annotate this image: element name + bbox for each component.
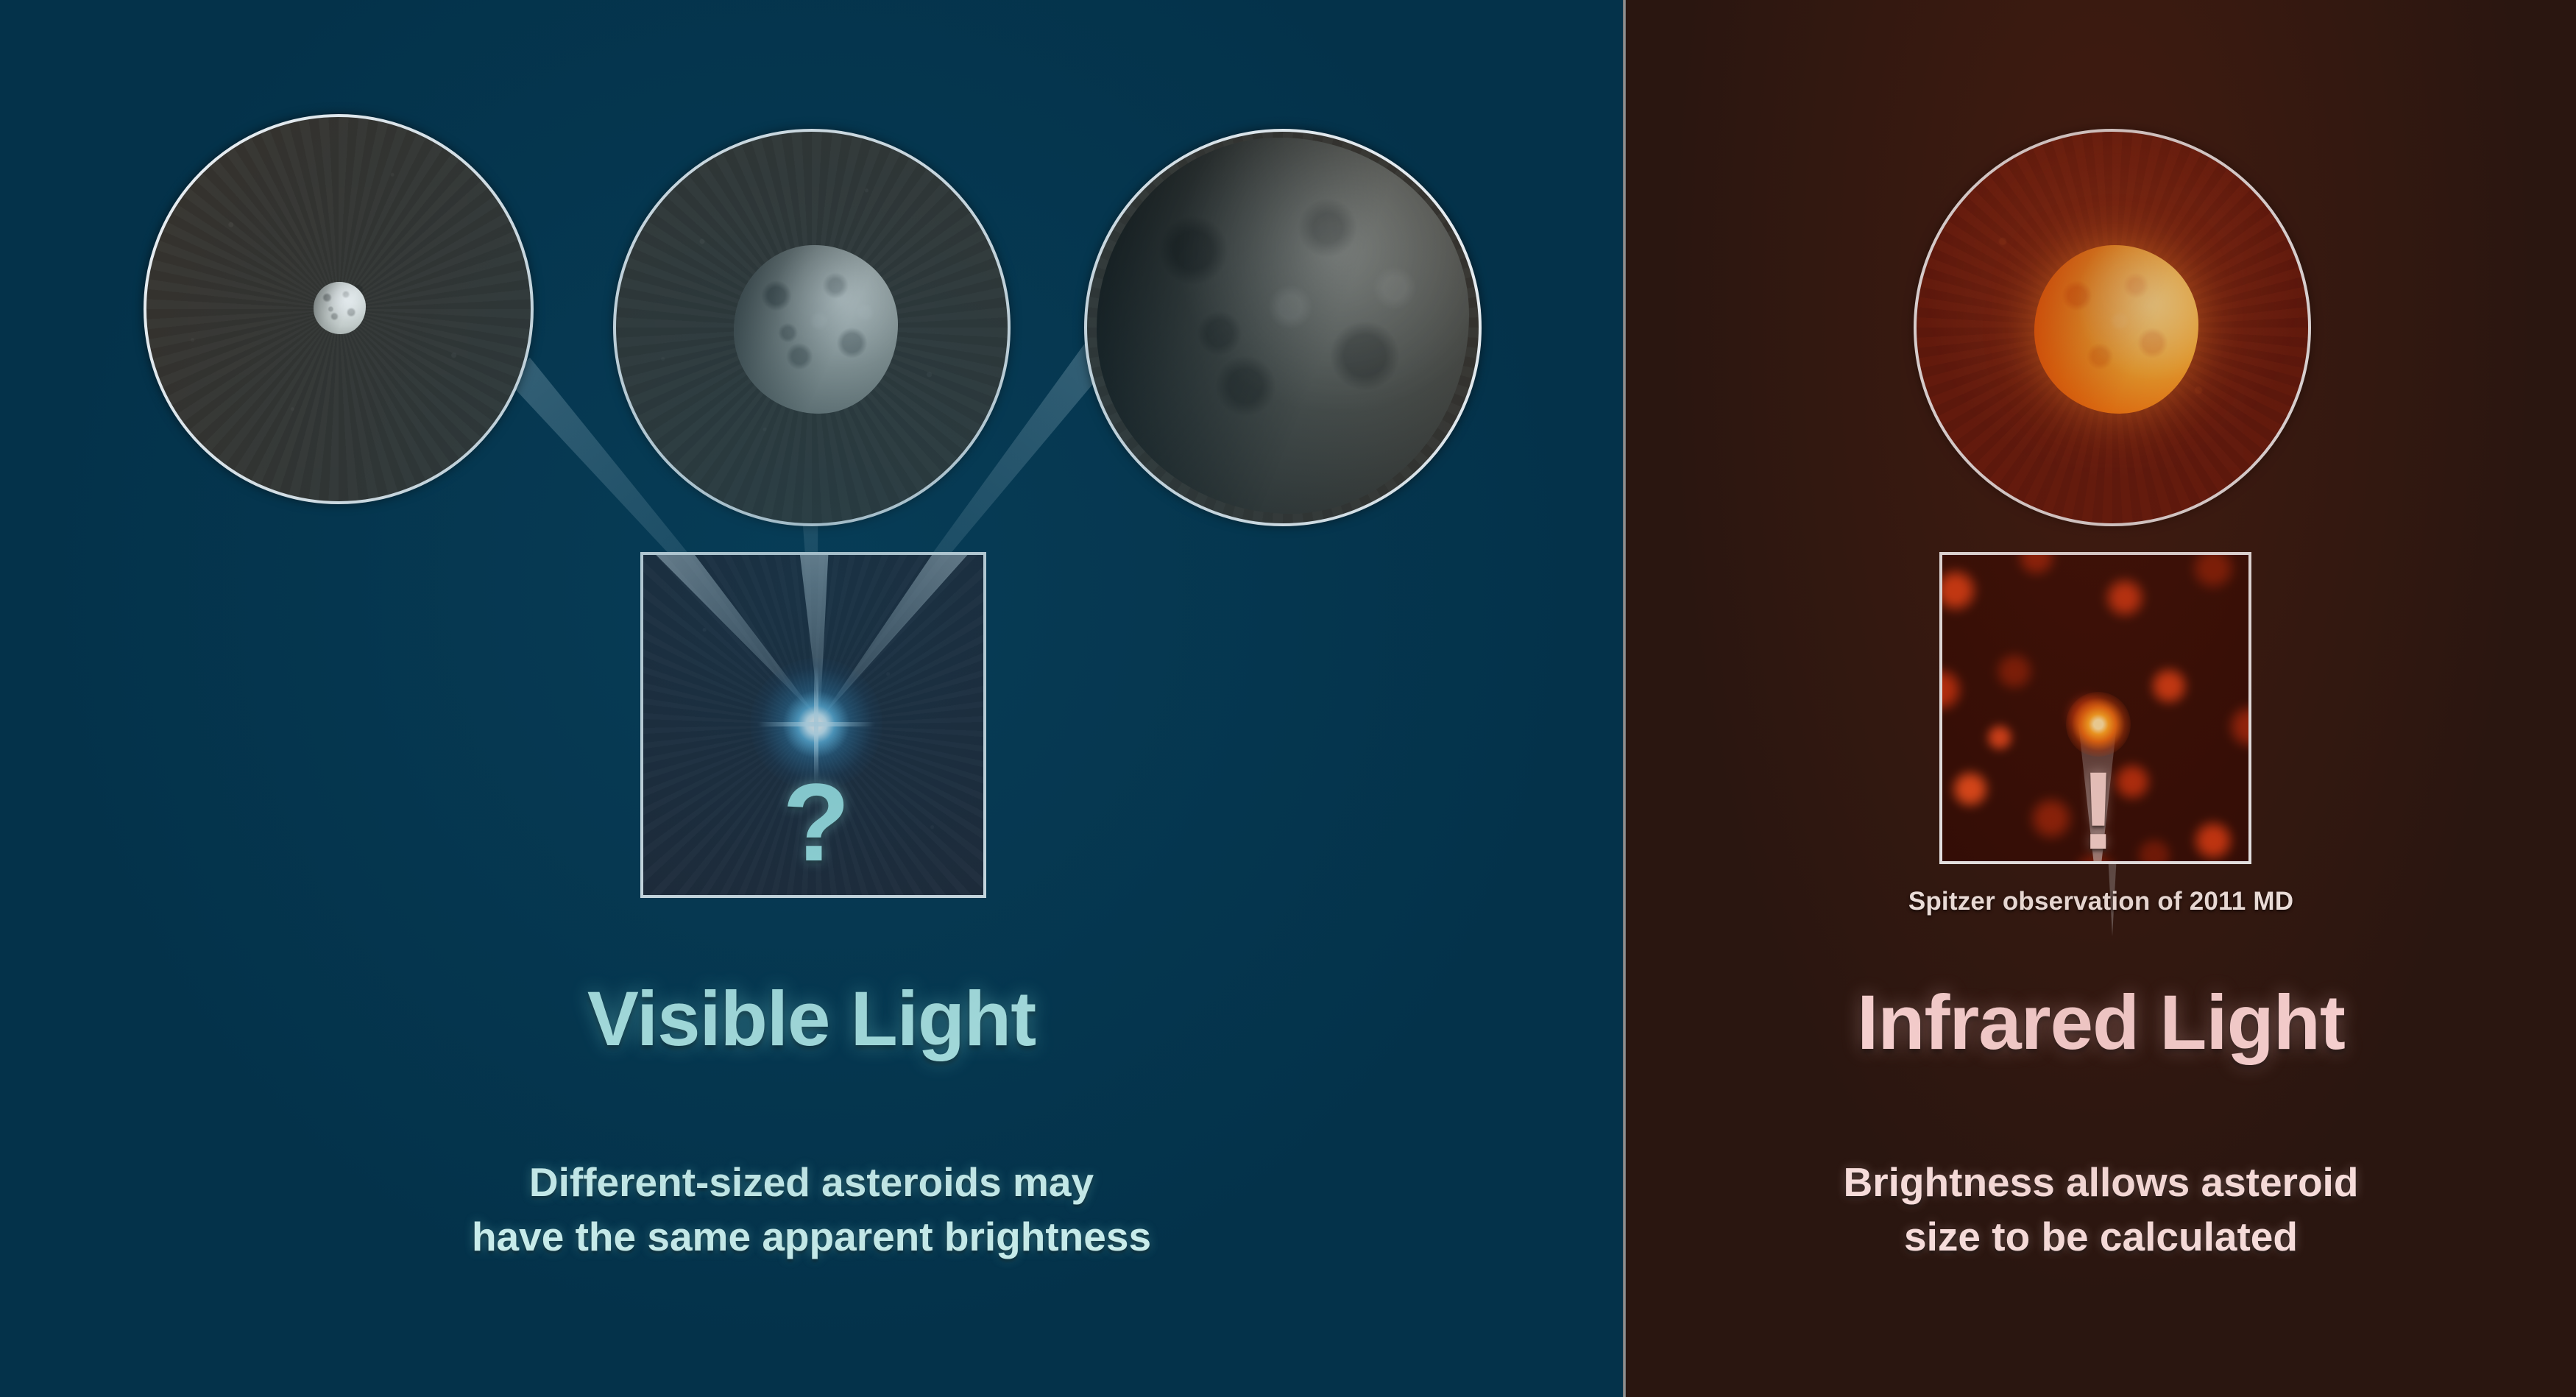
asteroid-shading bbox=[314, 282, 365, 333]
scope-small-bright-asteroid bbox=[144, 114, 534, 504]
question-mark-symbol: ? bbox=[643, 767, 986, 877]
infrared-hotspot bbox=[2066, 692, 2131, 757]
spitzer-observation-caption: Spitzer observation of 2011 MD bbox=[1626, 887, 2576, 916]
scope-infrared-asteroid bbox=[1914, 129, 2311, 526]
asteroid-infrared-glowing bbox=[2034, 245, 2198, 414]
visible-light-panel: ? Visible Light Different-sized asteroid… bbox=[0, 0, 1623, 1397]
asteroid-shading bbox=[1097, 138, 1468, 514]
infrared-light-body: Brightness allows asteroid size to be ca… bbox=[1626, 1156, 2576, 1264]
asteroid-shading bbox=[734, 245, 898, 414]
visible-body-line-2: have the same apparent brightness bbox=[0, 1210, 1623, 1265]
scope-large-dark-asteroid bbox=[1084, 129, 1482, 526]
exclamation-mark-symbol: ! bbox=[1942, 755, 2251, 864]
visible-light-body: Different-sized asteroids may have the s… bbox=[0, 1156, 1623, 1264]
visible-light-heading: Visible Light bbox=[0, 975, 1623, 1064]
infrared-body-line-1: Brightness allows asteroid bbox=[1626, 1156, 2576, 1210]
infrared-detection-box: ! bbox=[1939, 552, 2251, 864]
asteroid-large-dark bbox=[1097, 138, 1468, 514]
scope-medium-gray-asteroid bbox=[613, 129, 1011, 526]
infrared-light-heading: Infrared Light bbox=[1626, 979, 2576, 1067]
infrared-light-panel: ! Spitzer observation of 2011 MD Infrare… bbox=[1626, 0, 2576, 1397]
infographic-canvas: ? Visible Light Different-sized asteroid… bbox=[0, 0, 2576, 1397]
visible-body-line-1: Different-sized asteroids may bbox=[0, 1156, 1623, 1210]
visible-detection-box: ? bbox=[640, 552, 986, 898]
asteroid-shading bbox=[2034, 245, 2198, 414]
asteroid-small-bright bbox=[314, 282, 365, 333]
infrared-body-line-2: size to be calculated bbox=[1626, 1210, 2576, 1265]
asteroid-medium-gray bbox=[734, 245, 898, 414]
